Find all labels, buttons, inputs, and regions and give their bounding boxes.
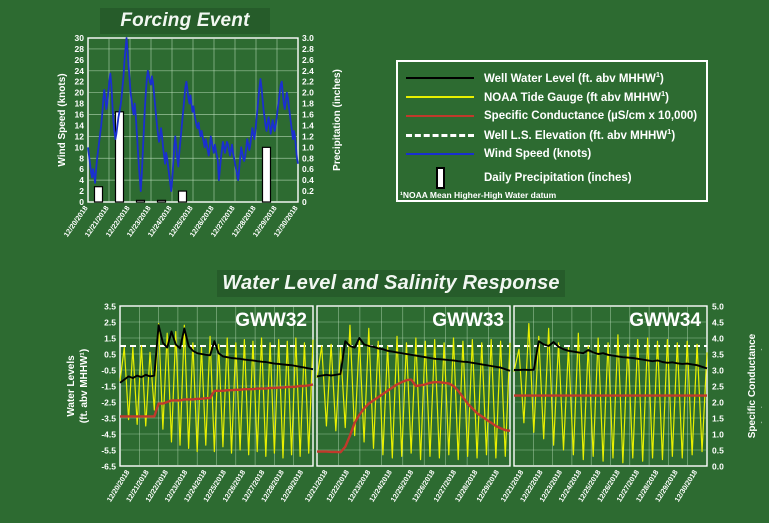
y-axis-tick: 14 <box>75 120 85 130</box>
y2-axis-label: Specific Conductance <box>747 333 758 438</box>
y-axis-tick: 8 <box>79 153 84 163</box>
legend-item-label: Well L.S. Elevation (ft. abv MHHW1) <box>484 127 675 142</box>
panel-title: GWW32 <box>235 310 307 331</box>
y-axis-tick: 10 <box>75 142 85 152</box>
y2-axis-tick: 5.0 <box>712 302 724 312</box>
y-axis-tick: 16 <box>75 110 85 120</box>
precipitation-bar <box>95 187 103 202</box>
gww33-chart: GWW3312/21/201812/22/201812/23/201812/24… <box>303 306 510 504</box>
y2-axis-tick: 1.0 <box>302 142 314 152</box>
precipitation-bar <box>158 200 166 202</box>
y2-axis-tick: 0.4 <box>302 175 314 185</box>
legend-item-label: Wind Speed (knots) <box>484 148 591 160</box>
precipitation-bar <box>179 191 187 202</box>
y-axis-tick: 6 <box>79 164 84 174</box>
y2-axis-tick: 1.6 <box>302 110 314 120</box>
y-axis-tick: 18 <box>75 99 85 109</box>
solid-line-black-icon <box>404 71 476 85</box>
y-axis-tick: 1.5 <box>104 334 116 344</box>
legend-item: NOAA Tide Gauge (ft abv MHHW1) <box>404 87 706 106</box>
legend-item: Specific Conductance (µS/cm x 10,000) <box>404 106 706 125</box>
y2-axis-tick: 0.5 <box>712 446 724 456</box>
figure-canvas: Forcing Event 02468101214161820222426283… <box>0 0 769 523</box>
y2-axis-tick: 2.6 <box>302 55 314 65</box>
y-axis-tick: 2 <box>79 186 84 196</box>
legend-item: Well L.S. Elevation (ft. abv MHHW1) <box>404 125 706 144</box>
solid-line-blue-icon <box>404 147 476 161</box>
y-axis-label: Wind Speed (knots) <box>57 73 68 166</box>
legend-footnote: ¹NOAA Mean Higher-High Water datum <box>400 190 556 200</box>
y2-axis-tick: 0.8 <box>302 153 314 163</box>
y2-axis-tick: 0.6 <box>302 164 314 174</box>
y-axis-tick: 4 <box>79 175 84 185</box>
y-axis-tick: -0.5 <box>101 366 116 376</box>
y-axis-tick: 3.5 <box>104 302 116 312</box>
y-axis-tick: -1.5 <box>101 382 116 392</box>
y2-axis-tick: 4.5 <box>712 318 724 328</box>
legend-item-label: Daily Precipitation (inches) <box>484 172 632 184</box>
y-axis-tick: 30 <box>75 33 85 43</box>
response-title: Water Level and Salinity Response <box>217 270 565 297</box>
y2-axis-tick: 1.2 <box>302 131 314 141</box>
y2-axis-tick: 1.5 <box>712 414 724 424</box>
panel-title: GWW34 <box>629 310 701 331</box>
legend-item: Wind Speed (knots) <box>404 144 706 163</box>
y-axis-tick: 22 <box>75 77 85 87</box>
y-axis-tick: -6.5 <box>101 462 116 472</box>
y-axis-tick: -4.5 <box>101 430 116 440</box>
y2-axis-tick: 0.2 <box>302 186 314 196</box>
y2-axis-tick: 2.8 <box>302 44 314 54</box>
y2-axis-tick: 3.0 <box>302 33 314 43</box>
forcing-event-chart: 02468101214161820222426283000.20.40.60.8… <box>55 30 355 260</box>
water-level-salinity-chart: 3.52.51.50.5-0.5-1.5-2.5-3.5-4.5-5.5-6.5… <box>62 298 762 523</box>
legend-rows: Well Water Level (ft. abv MHHW1)NOAA Tid… <box>398 62 706 193</box>
y2-axis-tick: 1.8 <box>302 99 314 109</box>
panel-title: GWW33 <box>432 310 504 331</box>
y-axis-tick: 0.5 <box>104 350 116 360</box>
y-axis-tick: 12 <box>75 131 85 141</box>
solid-line-red-icon <box>404 109 476 123</box>
bar-white-icon <box>404 171 476 185</box>
dashed-line-white-icon <box>404 128 476 142</box>
y2-axis-tick: 2.5 <box>712 382 724 392</box>
y-axis-label: Water Levels <box>66 355 77 417</box>
legend-box: Well Water Level (ft. abv MHHW1)NOAA Tid… <box>396 60 708 202</box>
gww32-chart: GWW3212/20/201812/21/201812/22/201812/23… <box>105 306 313 504</box>
y2-axis-tick: 2.0 <box>712 398 724 408</box>
solid-line-yellow-icon <box>404 90 476 104</box>
y-axis-tick: 20 <box>75 88 85 98</box>
y2-axis-tick: 3.5 <box>712 350 724 360</box>
precipitation-bar <box>263 147 271 202</box>
y-axis-tick: -5.5 <box>101 446 116 456</box>
y2-axis-tick: 2.2 <box>302 77 314 87</box>
y-axis-tick: -3.5 <box>101 414 116 424</box>
gww34-chart: GWW3412/21/201812/22/201812/23/201812/24… <box>499 306 707 504</box>
y2-axis-tick: 1.4 <box>302 120 314 130</box>
y2-axis-label: Precipitation (inches) <box>332 69 343 171</box>
legend-item-label: NOAA Tide Gauge (ft abv MHHW1) <box>484 89 669 104</box>
y2-axis-tick: 0 <box>302 197 307 207</box>
y2-axis-tick: 3.0 <box>712 366 724 376</box>
y2-axis-tick: 0.0 <box>712 462 724 472</box>
y2-axis-tick: 1.0 <box>712 430 724 440</box>
y2-axis-tick: 2.4 <box>302 66 314 76</box>
y-axis-tick: -2.5 <box>101 398 116 408</box>
y-axis-tick: 26 <box>75 55 85 65</box>
y-axis-tick: 28 <box>75 44 85 54</box>
legend-item: Well Water Level (ft. abv MHHW1) <box>404 68 706 87</box>
legend-item-label: Specific Conductance (µS/cm x 10,000) <box>484 110 697 122</box>
y-axis-tick: 24 <box>75 66 85 76</box>
y2-axis-label-units: (µS/cm x 10,000) <box>761 347 762 425</box>
y2-axis-tick: 4.0 <box>712 334 724 344</box>
y2-axis-tick: 2.0 <box>302 88 314 98</box>
legend-item: Daily Precipitation (inches) <box>404 163 706 193</box>
y-axis-tick: 2.5 <box>104 318 116 328</box>
legend-item-label: Well Water Level (ft. abv MHHW1) <box>484 70 664 85</box>
precipitation-bar <box>137 200 145 202</box>
y-axis-label-units: (ft. abv MHHW¹) <box>79 349 90 423</box>
